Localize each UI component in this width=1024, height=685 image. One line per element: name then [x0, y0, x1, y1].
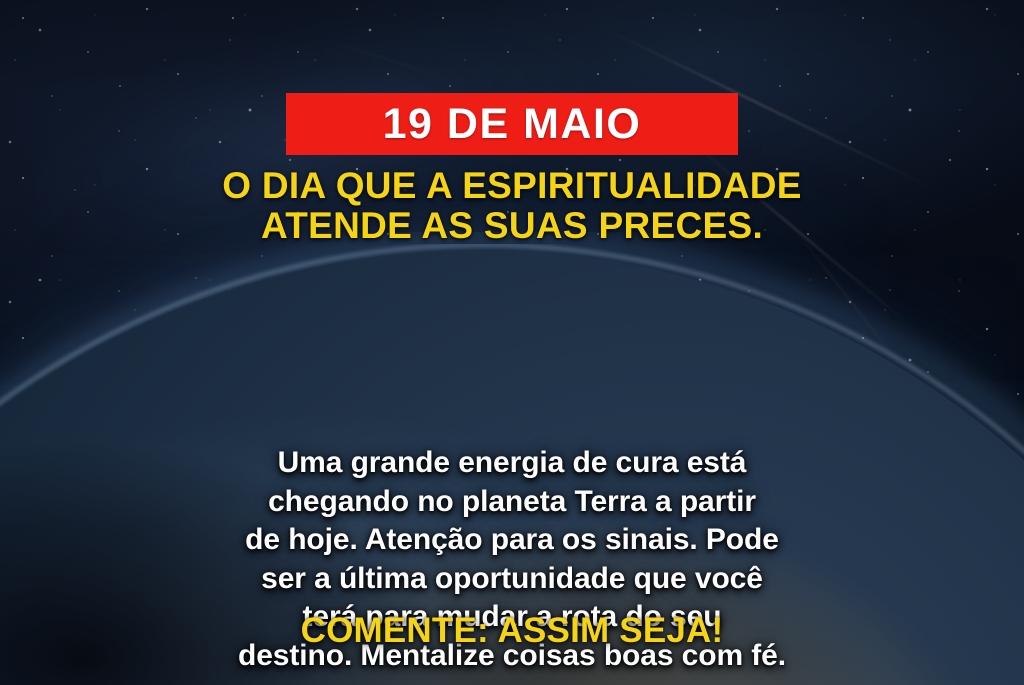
body-line-4: ser a última oportunidade que você	[0, 560, 1024, 599]
date-banner-label: 19 DE MAIO	[383, 103, 642, 146]
poster-canvas: 19 DE MAIO O DIA QUE A ESPIRITUALIDADE A…	[0, 0, 1024, 685]
content-layer: 19 DE MAIO O DIA QUE A ESPIRITUALIDADE A…	[0, 0, 1024, 685]
body-line-1: Uma grande energia de cura está	[0, 444, 1024, 483]
headline: O DIA QUE A ESPIRITUALIDADE ATENDE AS SU…	[0, 166, 1024, 246]
headline-line-2: ATENDE AS SUAS PRECES.	[0, 206, 1024, 246]
date-banner: 19 DE MAIO	[286, 93, 738, 155]
headline-line-1: O DIA QUE A ESPIRITUALIDADE	[0, 166, 1024, 206]
body-line-2: chegando no planeta Terra a partir	[0, 483, 1024, 522]
call-to-action-label: COMENTE: ASSIM SEJA!	[0, 613, 1024, 648]
body-line-3: de hoje. Atenção para os sinais. Pode	[0, 521, 1024, 560]
